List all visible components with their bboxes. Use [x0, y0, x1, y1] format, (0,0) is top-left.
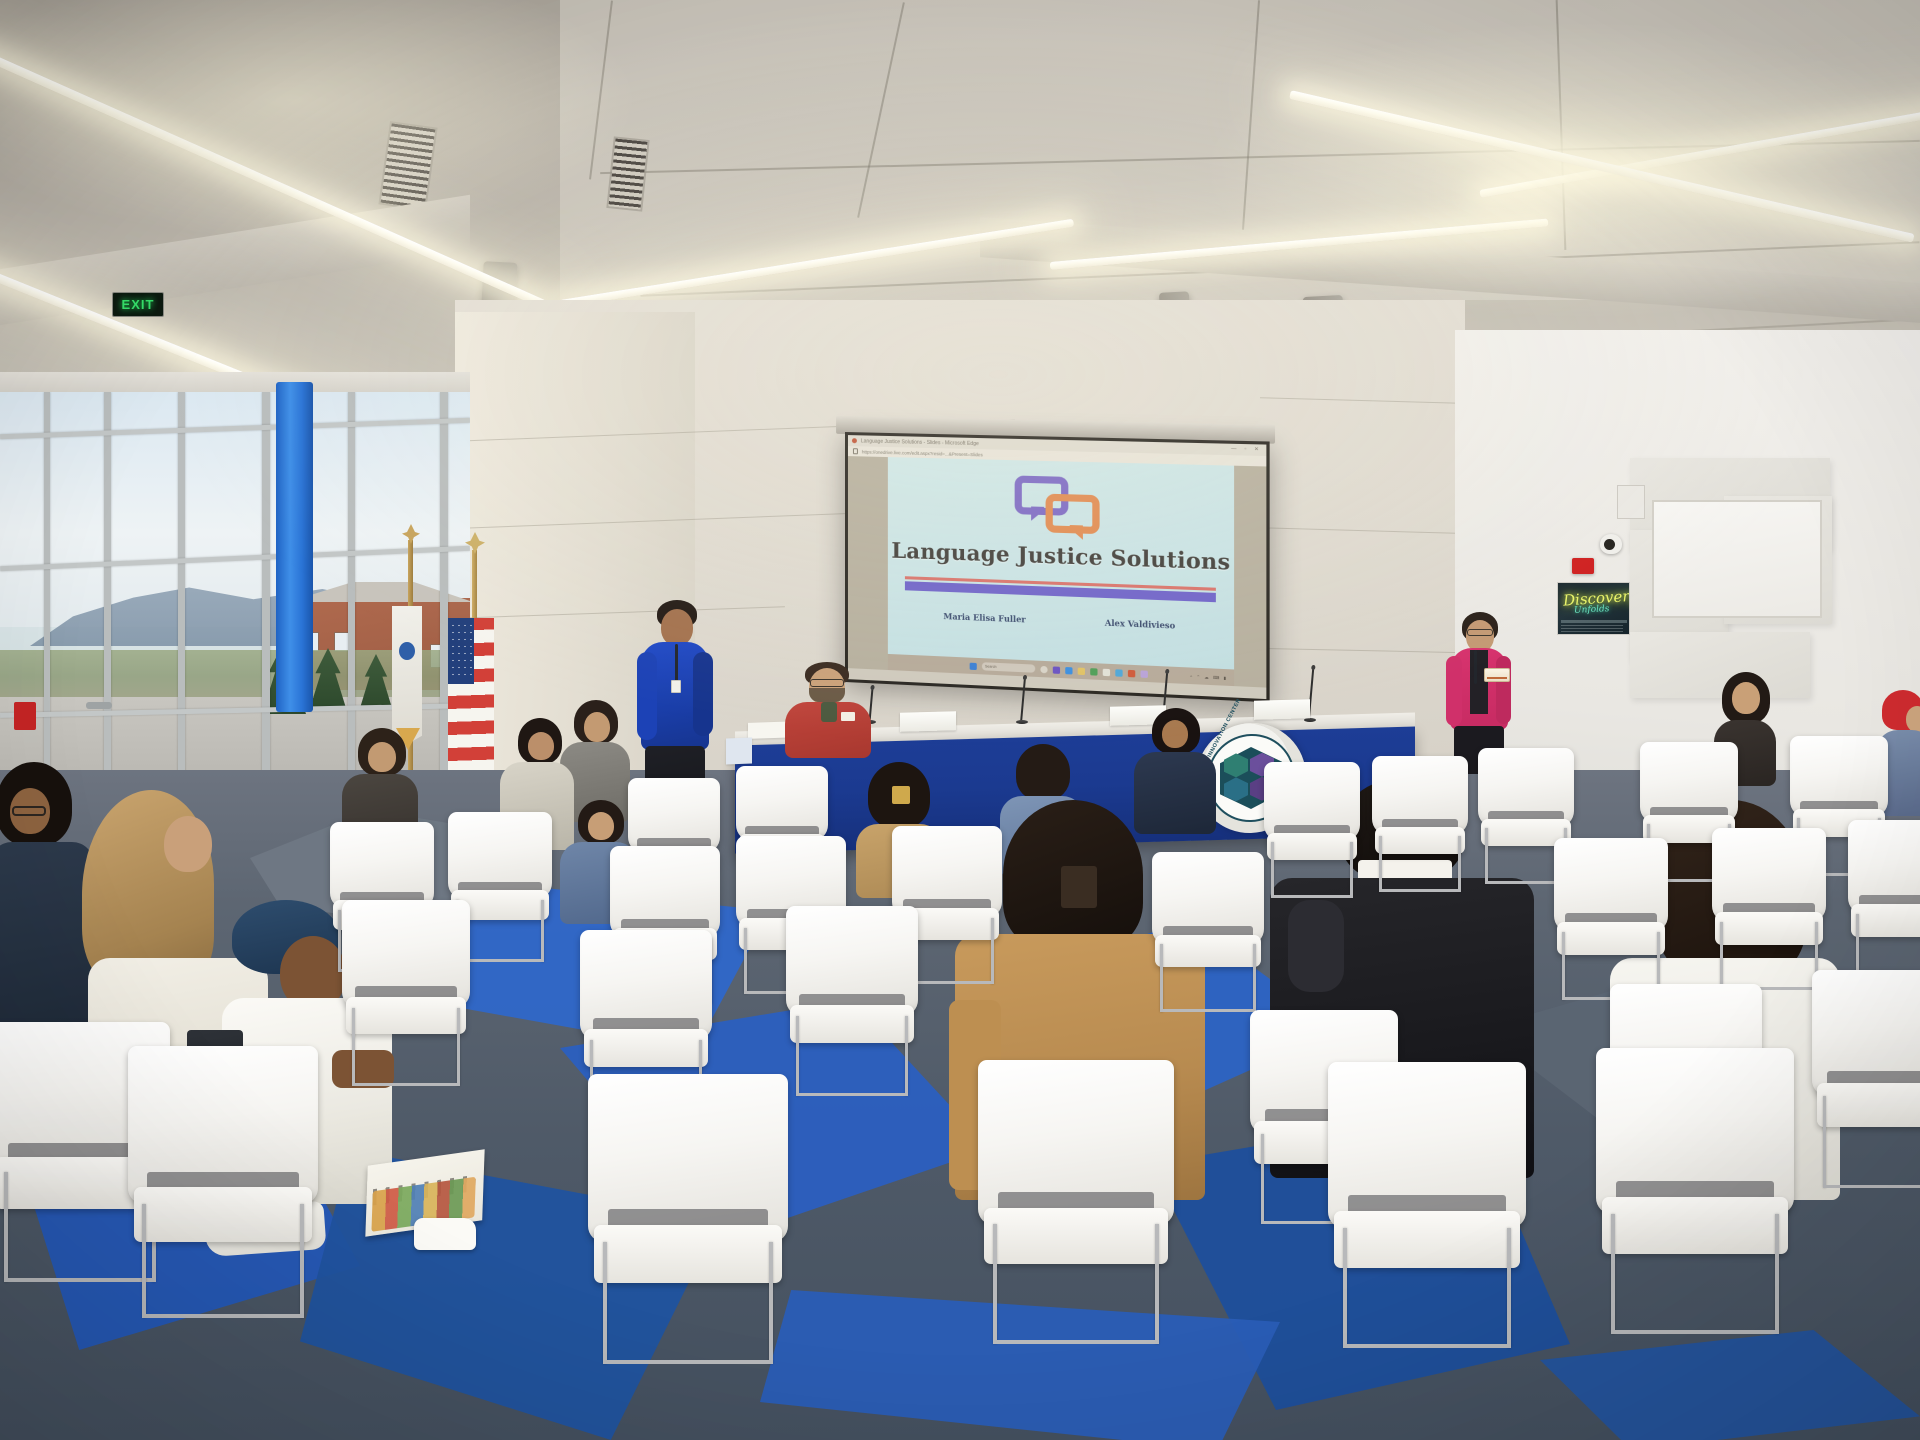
- wall-poster: Discovery Unfolds: [1557, 582, 1630, 635]
- child-shoe: [414, 1218, 476, 1250]
- carpet-pattern: [1540, 1330, 1920, 1440]
- presentation-slide: Language Justice Solutions Maria Elisa F…: [888, 457, 1234, 669]
- name-placard: [1254, 699, 1310, 720]
- powerpoint-icon[interactable]: [1128, 669, 1135, 677]
- desktop-background-left: [848, 456, 888, 670]
- chair[interactable]: [1848, 820, 1920, 982]
- speech-bubble-orange: [1046, 494, 1100, 535]
- explorer-icon[interactable]: [1078, 667, 1085, 675]
- poster-line-2: Unfolds: [1574, 604, 1610, 616]
- address-input[interactable]: https://onedrive.live.com/edit.aspx?resi…: [862, 449, 983, 457]
- chair[interactable]: [1812, 970, 1920, 1188]
- mail-icon[interactable]: [1115, 669, 1122, 677]
- chair[interactable]: [1264, 762, 1360, 898]
- name-tag: [1484, 668, 1510, 682]
- panelist-red-sweater: [785, 662, 871, 752]
- desktop-background-right: [1234, 466, 1266, 688]
- exit-sign: EXIT: [112, 292, 164, 317]
- wall-access-panel: [1617, 485, 1645, 519]
- eyeglasses: [810, 679, 844, 687]
- search-input[interactable]: Search: [982, 662, 1035, 673]
- edge-icon: [852, 438, 857, 443]
- onenote-icon[interactable]: [1141, 670, 1148, 678]
- fire-alarm-strobe-icon: [1572, 558, 1594, 574]
- chair[interactable]: [1372, 756, 1468, 892]
- system-tray[interactable]: ^ ⌃ ☁ ⌨ ▮: [1190, 673, 1228, 680]
- chair[interactable]: [1554, 838, 1668, 1000]
- door-handle[interactable]: [86, 702, 112, 709]
- chair[interactable]: [1328, 1062, 1526, 1348]
- chair[interactable]: [342, 900, 470, 1086]
- lock-icon: [853, 448, 858, 454]
- presenter-names: Maria Elisa Fuller Alex Valdivieso: [905, 609, 1216, 632]
- chair[interactable]: [128, 1046, 318, 1318]
- window-controls[interactable]: — ▫ ✕: [1231, 446, 1262, 453]
- store-icon[interactable]: [1090, 668, 1097, 676]
- projection-screen: Language Justice Solutions - Slides - Mi…: [845, 432, 1270, 702]
- poster-divider: [1561, 620, 1627, 623]
- screen-surface: Language Justice Solutions - Slides - Mi…: [848, 435, 1266, 699]
- poster-footer-text: [1561, 625, 1623, 632]
- chair[interactable]: [786, 906, 918, 1096]
- office-icon[interactable]: [1103, 668, 1110, 676]
- fire-alarm-pull-station-icon: [14, 702, 36, 730]
- microphone-base: [1016, 720, 1028, 724]
- eyeglasses: [12, 806, 46, 816]
- exit-sign-label: EXIT: [122, 297, 155, 312]
- blue-structural-column: [276, 382, 313, 712]
- id-badge: [671, 680, 681, 693]
- name-sticker: [841, 712, 855, 721]
- browser-window-title: Language Justice Solutions - Slides - Mi…: [861, 438, 979, 447]
- chair[interactable]: [1712, 828, 1826, 990]
- chair[interactable]: [588, 1074, 788, 1364]
- presenter-name-1: Maria Elisa Fuller: [943, 611, 1025, 625]
- edge-icon[interactable]: [1065, 666, 1072, 673]
- whiteboard: [1652, 500, 1822, 618]
- chair[interactable]: [1596, 1048, 1794, 1334]
- name-placard: [900, 711, 956, 732]
- chair[interactable]: [1152, 852, 1264, 1012]
- chair[interactable]: [978, 1060, 1174, 1344]
- search-placeholder: Search: [985, 664, 997, 669]
- microphone-base: [1304, 718, 1316, 722]
- speech-bubbles-logo: [1015, 475, 1102, 535]
- lanyard-card: [821, 702, 837, 722]
- teams-icon[interactable]: [1053, 666, 1060, 673]
- hair-clip: [1061, 866, 1097, 908]
- ptz-camera-icon: [1600, 534, 1622, 554]
- hair-clip: [892, 786, 910, 804]
- presenter-name-2: Alex Valdivieso: [1105, 617, 1175, 630]
- eyeglasses: [1467, 629, 1493, 636]
- windows-start-icon[interactable]: [970, 662, 977, 669]
- conference-room-photo: EXIT Discovery Unfolds: [0, 0, 1920, 1440]
- folder: [726, 738, 752, 765]
- slide-title: Language Justice Solutions: [891, 538, 1230, 575]
- widgets-icon[interactable]: [1040, 665, 1047, 672]
